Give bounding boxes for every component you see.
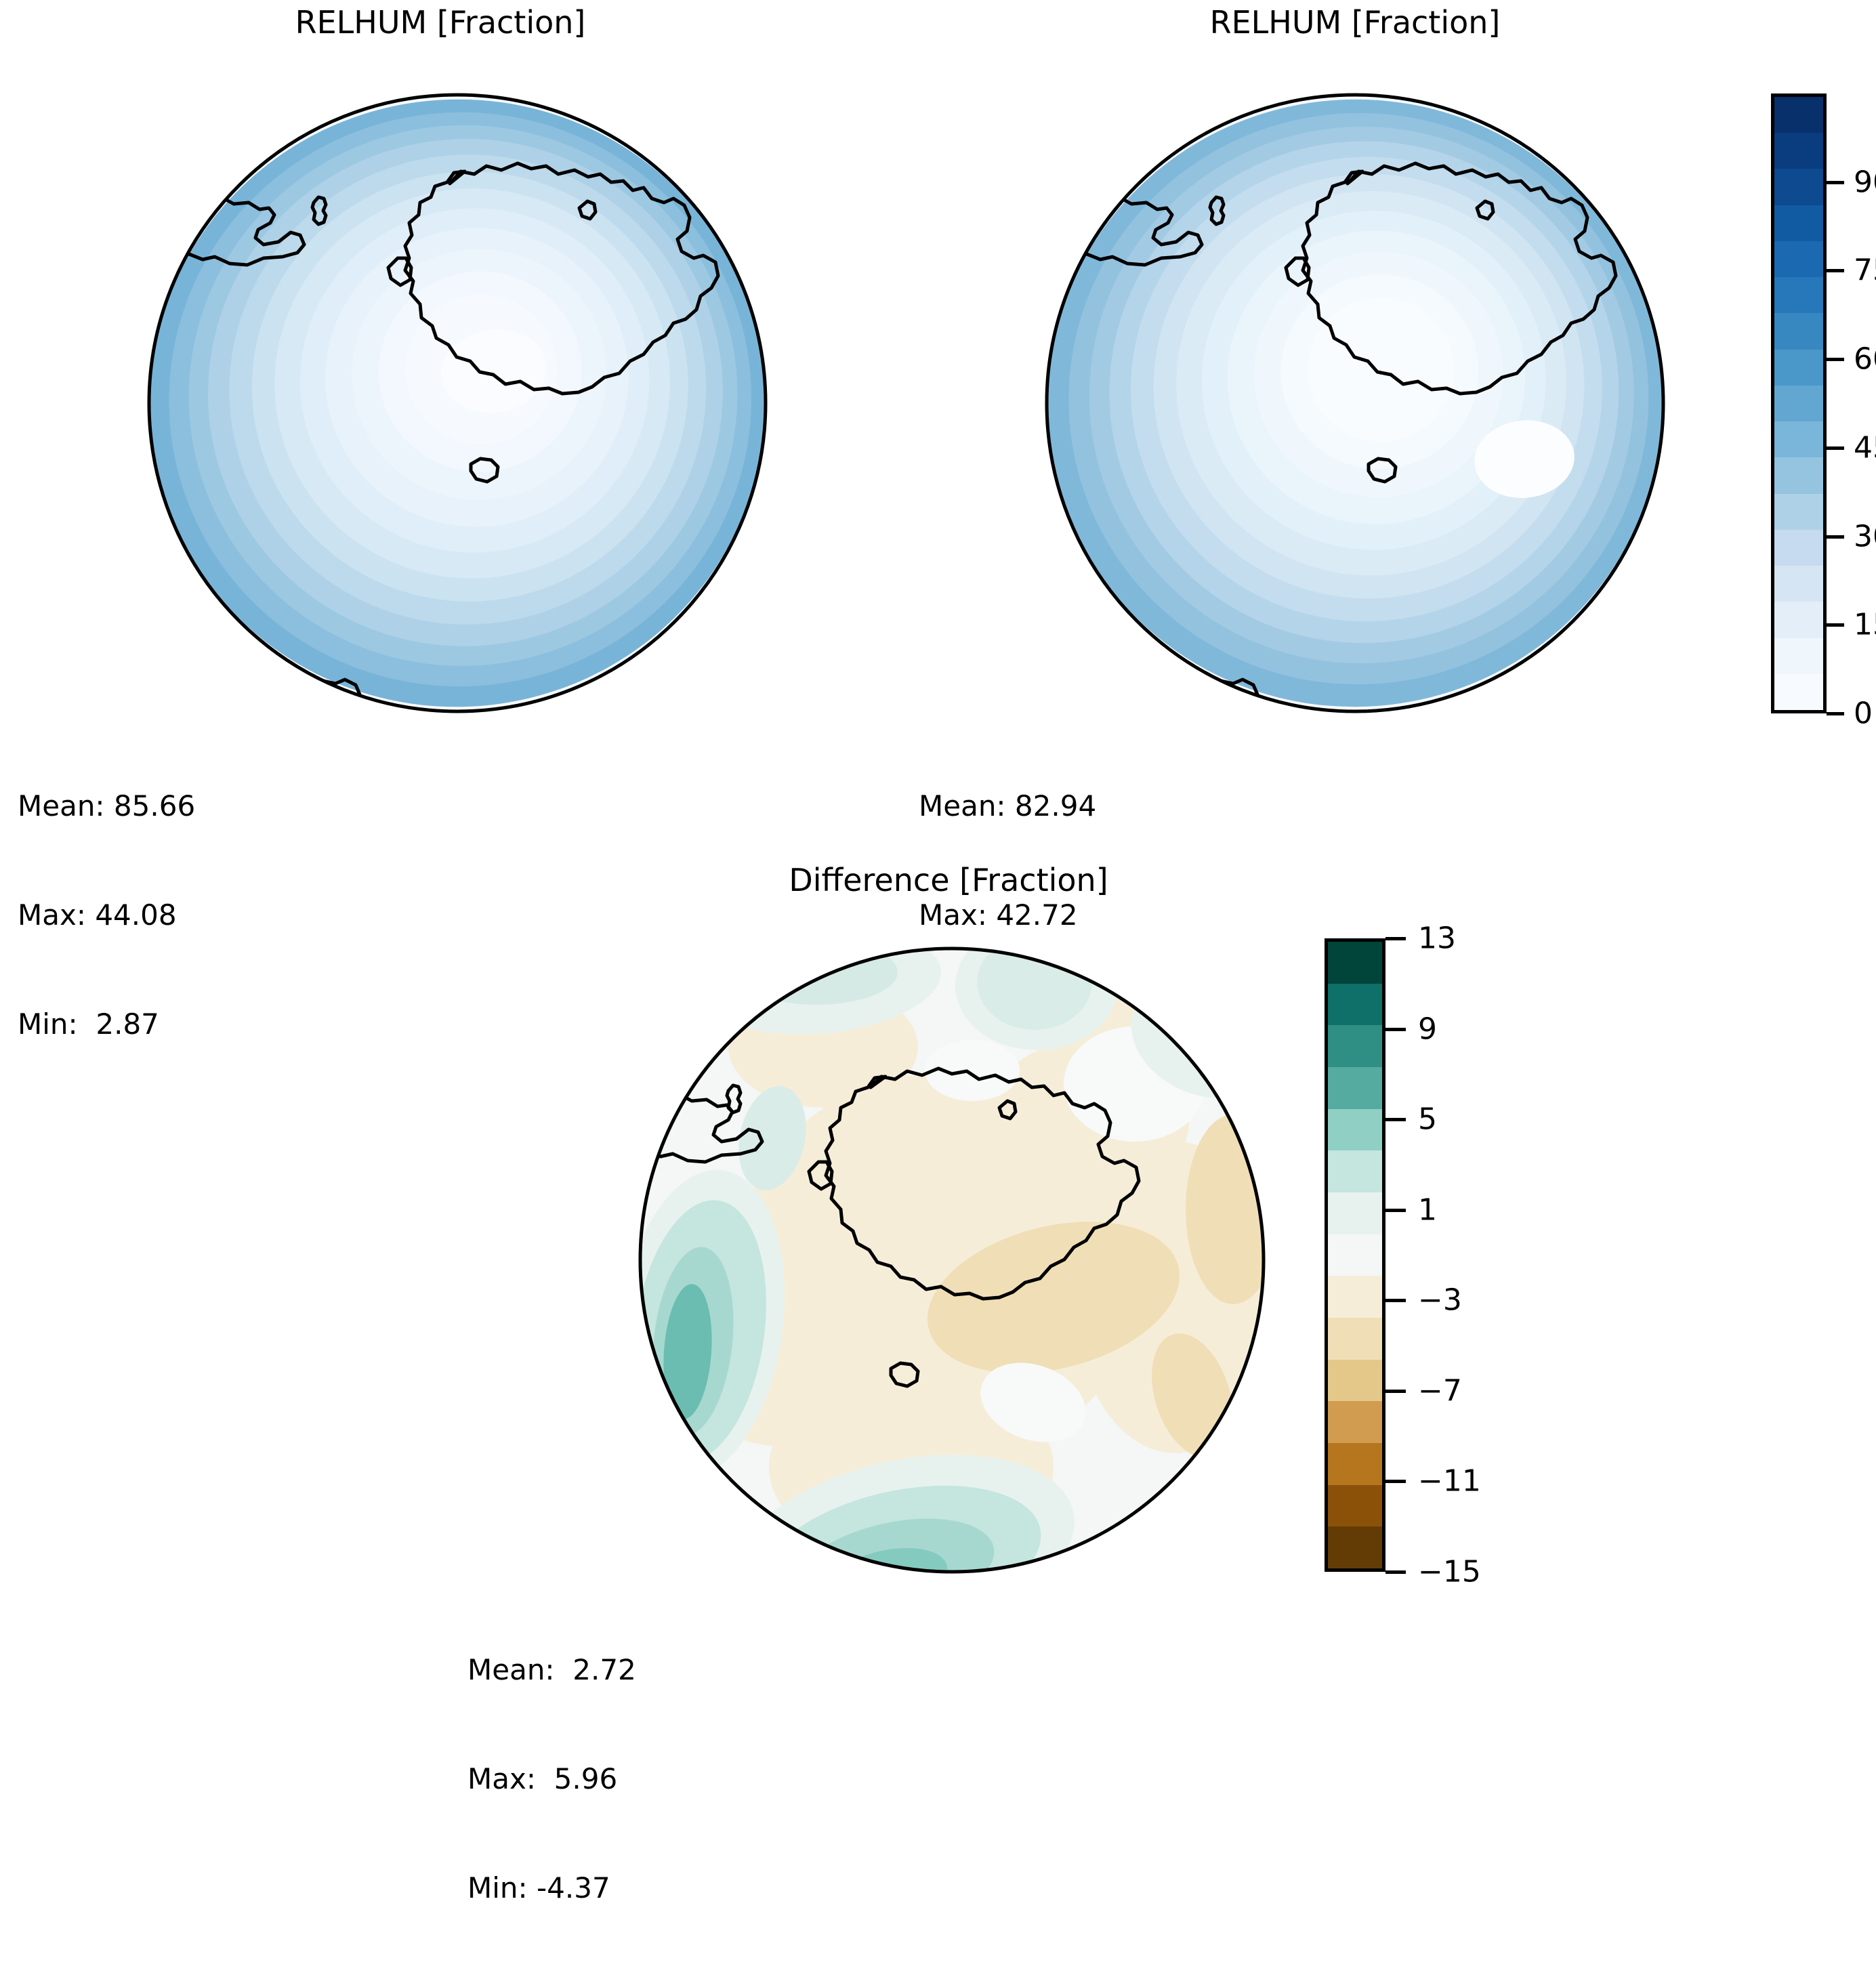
panel-test-stats: Mean: 85.66 Max: 44.08 Min: 2.87 — [18, 715, 195, 1115]
colorbar-segment — [1774, 674, 1823, 710]
colorbar-segment — [1328, 984, 1382, 1026]
panel-difference-stats: Mean: 2.72 Max: 5.96 Min: -4.37 — [467, 1579, 636, 1979]
colorbar-segment — [1328, 1276, 1382, 1318]
colorbar-segment — [1774, 350, 1823, 386]
colorbar-tick-mark — [1827, 535, 1844, 539]
contour-fill-control — [1043, 58, 1667, 749]
colorbar-segment — [1774, 386, 1823, 421]
colorbar-segment — [1328, 1192, 1382, 1234]
panel-difference-title: Difference [Fraction] — [535, 862, 1362, 898]
colorbar-segment — [1774, 205, 1823, 241]
colorbar-segment — [1774, 566, 1823, 602]
colorbar-brbg-bar[interactable] — [1325, 938, 1385, 1572]
colorbar-tick-mark — [1827, 446, 1844, 450]
colorbar-segment — [1774, 241, 1823, 277]
colorbar-segment — [1774, 277, 1823, 313]
panel-test-map — [146, 58, 769, 749]
colorbar-segment — [1774, 602, 1823, 638]
polar-map-control — [1043, 58, 1667, 749]
colorbar-tick-mark — [1827, 269, 1844, 272]
colorbar-tick-mark — [1827, 712, 1844, 715]
colorbar-tick-mark — [1827, 181, 1844, 184]
colorbar-tick-mark — [1385, 1570, 1406, 1574]
colorbar-brbg-ticks: 13951−3−7−11−15 — [1385, 938, 1501, 1572]
colorbar-tick-label: −3 — [1418, 1283, 1462, 1318]
panel-test-min: Min: 2.87 — [18, 1006, 195, 1043]
colorbar-segment — [1328, 1067, 1382, 1109]
colorbar-segment — [1774, 530, 1823, 566]
colorbar-segment — [1774, 313, 1823, 349]
colorbar-segment — [1328, 1318, 1382, 1360]
colorbar-blues-ticks: 9075604530150 — [1827, 93, 1873, 713]
colorbar-segment — [1328, 1109, 1382, 1151]
colorbar-segment — [1774, 494, 1823, 530]
colorbar-tick-label: 75 — [1854, 253, 1876, 288]
colorbar-tick-mark — [1385, 937, 1406, 940]
colorbar-blues[interactable]: 9075604530150 — [1771, 93, 1873, 713]
colorbar-tick-label: 90 — [1854, 165, 1876, 199]
colorbar-segment — [1328, 1025, 1382, 1067]
colorbar-tick-label: 60 — [1854, 342, 1876, 377]
colorbar-tick-label: 9 — [1418, 1012, 1437, 1046]
contour-fill-difference — [620, 918, 1284, 1609]
colorbar-tick-mark — [1385, 1028, 1406, 1031]
contour-fill-test — [146, 58, 769, 749]
colorbar-segment — [1774, 97, 1823, 133]
colorbar-tick-label: −15 — [1418, 1555, 1481, 1589]
colorbar-segment — [1328, 1150, 1382, 1192]
colorbar-tick-mark — [1385, 1299, 1406, 1302]
panel-test-max: Max: 44.08 — [18, 897, 195, 934]
panel-difference-min: Min: -4.37 — [467, 1870, 636, 1907]
panel-difference-map — [620, 918, 1284, 1609]
colorbar-segment — [1774, 133, 1823, 169]
panel-difference-max: Max: 5.96 — [467, 1761, 636, 1797]
colorbar-segment — [1328, 1360, 1382, 1402]
colorbar-tick-mark — [1827, 358, 1844, 361]
colorbar-segment — [1774, 457, 1823, 493]
colorbar-tick-label: −7 — [1418, 1373, 1462, 1408]
colorbar-segment — [1328, 1234, 1382, 1276]
colorbar-tick-label: −11 — [1418, 1464, 1481, 1499]
colorbar-tick-mark — [1385, 1480, 1406, 1483]
colorbar-segment — [1328, 942, 1382, 984]
colorbar-tick-mark — [1385, 1118, 1406, 1121]
colorbar-segment — [1328, 1401, 1382, 1443]
colorbar-segment — [1774, 421, 1823, 457]
colorbar-blues-bar[interactable] — [1771, 93, 1827, 713]
panel-difference-mean: Mean: 2.72 — [467, 1652, 636, 1688]
colorbar-tick-mark — [1385, 1209, 1406, 1212]
colorbar-brbg[interactable]: 13951−3−7−11−15 — [1325, 938, 1501, 1572]
colorbar-segment — [1328, 1526, 1382, 1568]
colorbar-tick-label: 13 — [1418, 921, 1456, 956]
polar-map-test — [146, 58, 769, 749]
colorbar-tick-mark — [1385, 1390, 1406, 1393]
colorbar-segment — [1328, 1485, 1382, 1527]
colorbar-tick-label: 5 — [1418, 1102, 1437, 1137]
panel-control-title: RELHUM [Fraction] — [955, 4, 1755, 41]
panel-test-title: RELHUM [Fraction] — [41, 4, 840, 41]
colorbar-tick-label: 0 — [1854, 696, 1873, 731]
colorbar-segment — [1774, 169, 1823, 205]
colorbar-tick-mark — [1827, 623, 1844, 627]
panel-test-mean: Mean: 85.66 — [18, 788, 195, 825]
colorbar-segment — [1328, 1443, 1382, 1485]
panel-control-map — [1043, 58, 1667, 749]
colorbar-tick-label: 30 — [1854, 519, 1876, 554]
polar-map-difference — [620, 918, 1284, 1609]
colorbar-segment — [1774, 638, 1823, 674]
panel-control-mean: Mean: 82.94 — [919, 788, 1096, 825]
colorbar-tick-label: 45 — [1854, 430, 1876, 465]
colorbar-tick-label: 1 — [1418, 1192, 1437, 1227]
colorbar-tick-label: 15 — [1854, 608, 1876, 642]
